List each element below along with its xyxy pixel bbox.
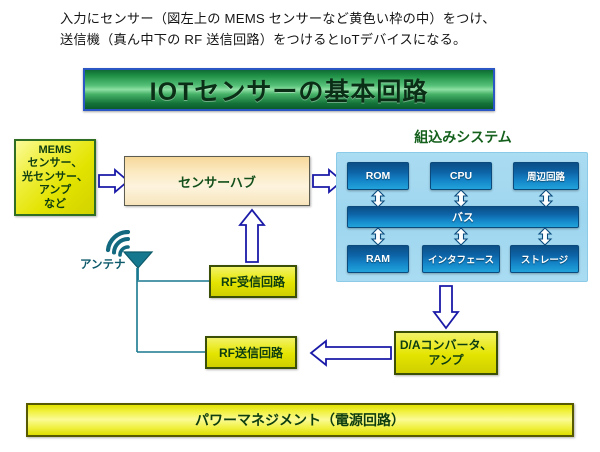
mems-line-2: センサー、 bbox=[28, 157, 83, 169]
block-interface: インタフェース bbox=[422, 245, 500, 273]
rf-receive-box: RF受信回路 bbox=[209, 265, 297, 298]
title-text: IOTセンサーの基本回路 bbox=[85, 72, 493, 108]
power-management-label: パワーマネジメント（電源回路） bbox=[195, 410, 405, 430]
dac-amp-box: D/Aコンバータ、 アンプ bbox=[394, 331, 498, 375]
mems-line-5: など bbox=[44, 198, 66, 210]
rf-transmit-label: RF送信回路 bbox=[219, 344, 283, 361]
double-arrow-peripheral-bus bbox=[538, 190, 554, 207]
embedded-system-panel: ROM CPU 周辺回路 バス RAM インタフェース ストレージ bbox=[336, 152, 588, 282]
double-arrow-bus-storage bbox=[537, 228, 553, 245]
double-arrow-bus-interface bbox=[453, 228, 469, 245]
power-management-bar: パワーマネジメント（電源回路） bbox=[26, 403, 574, 437]
double-arrow-rom-bus bbox=[370, 190, 386, 207]
block-cpu: CPU bbox=[430, 162, 492, 190]
iot-sensor-diagram: 入力にセンサー（図左上の MEMS センサーなど黄色い枠の中）をつけ、 送信機（… bbox=[0, 0, 600, 452]
block-ram: RAM bbox=[347, 245, 409, 273]
dac-line-1: D/Aコンバータ、 bbox=[400, 338, 492, 352]
block-bus: バス bbox=[347, 206, 579, 228]
caption-line-2: 送信機（真ん中下の RF 送信回路）をつけるとIoTデバイスになる。 bbox=[60, 29, 580, 50]
dac-amp-label: D/Aコンバータ、 アンプ bbox=[400, 338, 492, 368]
mems-line-1: MEMS bbox=[38, 144, 71, 156]
mems-line-4: アンプ bbox=[39, 184, 71, 196]
block-storage: ストレージ bbox=[510, 245, 579, 273]
title-banner: IOTセンサーの基本回路 bbox=[83, 68, 495, 111]
rf-receive-label: RF受信回路 bbox=[221, 273, 285, 290]
block-peripheral-label: 周辺回路 bbox=[527, 169, 565, 183]
arrow-dac-to-rftx bbox=[311, 341, 391, 365]
block-rom: ROM bbox=[347, 162, 409, 190]
block-bus-label: バス bbox=[452, 209, 474, 225]
dac-line-2: アンプ bbox=[428, 353, 463, 367]
antenna-label: アンテナ bbox=[80, 256, 126, 272]
mems-line-3: 光センサー、 bbox=[22, 171, 88, 183]
block-storage-label: ストレージ bbox=[521, 252, 568, 266]
embedded-system-title: 組込みシステム bbox=[378, 127, 548, 147]
caption-text: 入力にセンサー（図左上の MEMS センサーなど黄色い枠の中）をつけ、 送信機（… bbox=[60, 8, 580, 50]
arrow-embedded-to-dac bbox=[434, 286, 458, 328]
mems-sensor-box: MEMS センサー、 光センサー、 アンプ など bbox=[14, 139, 96, 216]
block-cpu-label: CPU bbox=[450, 170, 472, 182]
double-arrow-bus-ram bbox=[370, 228, 386, 245]
block-peripheral: 周辺回路 bbox=[513, 162, 579, 190]
mems-sensor-label: MEMS センサー、 光センサー、 アンプ など bbox=[22, 144, 88, 211]
caption-line-1: 入力にセンサー（図左上の MEMS センサーなど黄色い枠の中）をつけ、 bbox=[60, 8, 580, 29]
double-arrow-cpu-bus bbox=[453, 190, 469, 207]
sensor-hub-box: センサーハブ bbox=[124, 156, 310, 206]
sensor-hub-label: センサーハブ bbox=[178, 172, 256, 191]
block-ram-label: RAM bbox=[366, 253, 390, 265]
block-interface-label: インタフェース bbox=[428, 252, 494, 266]
arrow-rfrx-to-hub bbox=[240, 210, 264, 262]
block-rom-label: ROM bbox=[366, 170, 391, 182]
rf-transmit-box: RF送信回路 bbox=[205, 336, 297, 369]
